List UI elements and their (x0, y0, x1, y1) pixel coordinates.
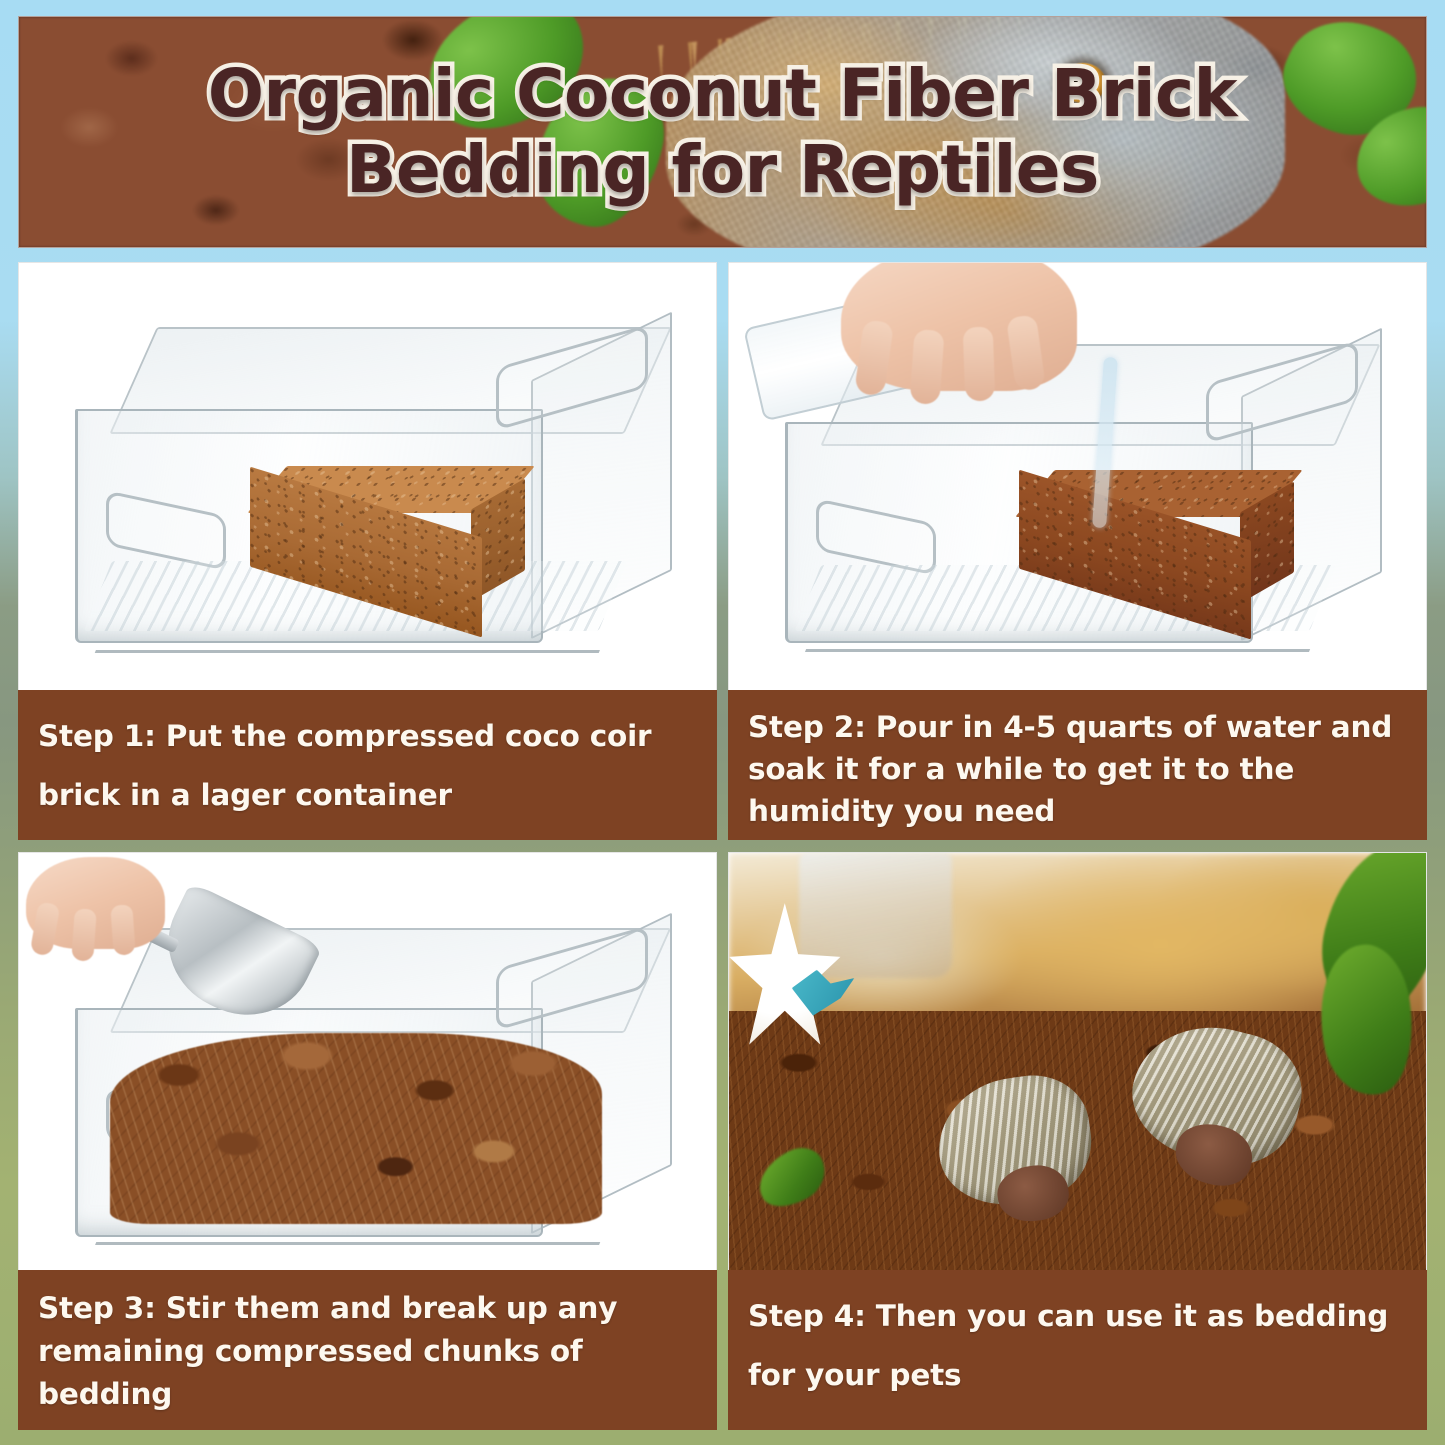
finger (909, 329, 944, 405)
banner-title: Organic Coconut Fiber Brick Bedding for … (19, 17, 1426, 247)
step-panel-2: Step 2: Pour in 4-5 quarts of water and … (728, 262, 1427, 840)
finger (72, 908, 98, 961)
hermit-crab (930, 1068, 1099, 1213)
step-panel-3: Step 3: Stir them and break up any remai… (18, 852, 717, 1430)
step-4-caption: Step 4: Then you can use it as bedding f… (728, 1270, 1427, 1430)
clear-storage-bin (75, 327, 660, 643)
step-panel-4: Step 4: Then you can use it as bedding f… (728, 852, 1427, 1430)
finger (111, 904, 136, 955)
bin-feet (95, 1230, 605, 1245)
step-1-caption: Step 1: Put the compressed coco coir bri… (18, 690, 717, 840)
bin-handle-front-icon (106, 490, 226, 571)
infographic-page: Organic Coconut Fiber Brick Bedding for … (0, 0, 1445, 1445)
bin-handle-front-icon (816, 498, 936, 576)
step-2-photo (728, 262, 1427, 690)
bin-feet (95, 637, 605, 653)
steps-grid: Step 1: Put the compressed coco coir bri… (18, 262, 1427, 1430)
hand-holding-trowel (26, 857, 165, 949)
trowel-blade (146, 882, 323, 1038)
banner-title-line-1: Organic Coconut Fiber Brick (208, 57, 1237, 131)
coco-coir-brick (250, 466, 519, 605)
hand-holding-bottle (841, 262, 1078, 391)
step-3-caption: Step 3: Stir them and break up any remai… (18, 1270, 717, 1430)
expanded-coco-coir (110, 1033, 602, 1224)
finger (962, 327, 995, 402)
bin-feet (805, 637, 1315, 652)
step-panel-1: Step 1: Put the compressed coco coir bri… (18, 262, 717, 840)
header-banner: Organic Coconut Fiber Brick Bedding for … (18, 16, 1427, 248)
step-2-caption: Step 2: Pour in 4-5 quarts of water and … (728, 690, 1427, 840)
step-3-photo (18, 852, 717, 1270)
step-4-photo (728, 852, 1427, 1270)
step-1-photo (18, 262, 717, 690)
terrarium-scene (729, 853, 1426, 1270)
finger (1006, 314, 1046, 391)
banner-title-line-2: Bedding for Reptiles (346, 133, 1099, 207)
coco-coir-brick (1019, 470, 1288, 607)
